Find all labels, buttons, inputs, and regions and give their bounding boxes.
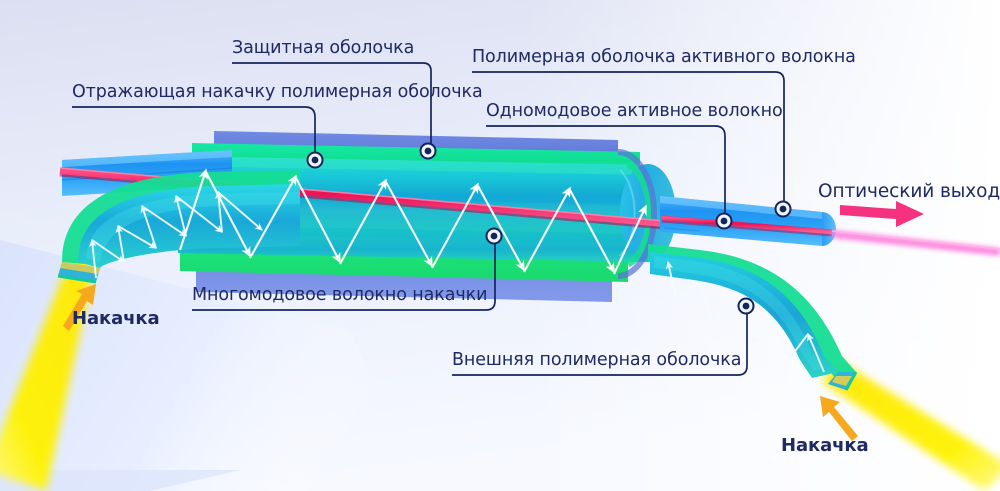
label-pump-reflecting-polymer: Отражающая накачку полимерная оболочка (72, 84, 483, 102)
label-protective-coating: Защитная оболочка (232, 40, 414, 58)
figure-canvas: Защитная оболочка Отражающая накачку пол… (0, 0, 1000, 491)
optical-output-arrow (840, 201, 924, 227)
output-fiber (660, 196, 836, 246)
label-multimode-pump-fiber: Многомодовое волокно накачки (192, 287, 487, 305)
label-singlemode-active-fiber: Одномодовое активное волокно (486, 103, 783, 121)
label-outer-polymer-coating: Внешняя полимерная оболочка (452, 352, 741, 370)
label-active-fiber-polymer: Полимерная оболочка активного волокна (472, 49, 856, 67)
pump-beam-left (0, 253, 95, 491)
label-pump-right: Накачка (781, 437, 869, 455)
label-pump-left: Накачка (72, 310, 160, 328)
label-optical-output: Оптический выход (818, 183, 1000, 202)
fiber-laser-illustration (0, 0, 1000, 491)
optical-output-beam (832, 230, 1000, 256)
